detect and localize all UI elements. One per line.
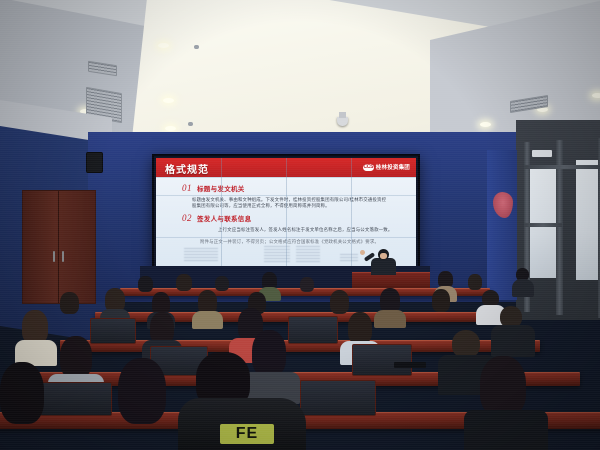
downlight: [480, 122, 491, 127]
panel-seam: [286, 158, 287, 266]
doc-thumbnail: [340, 254, 358, 262]
panel-seam: [221, 158, 222, 266]
ceiling-dome-camera-icon: [337, 117, 348, 126]
logo-company-text: 桂林投资集团: [376, 163, 410, 171]
panel-seam: [351, 158, 352, 266]
wooden-double-door[interactable]: [22, 190, 96, 304]
downlight: [158, 43, 169, 48]
section-02-body: 上行文应当标注签发人，签发人姓名标注于发文单位名称之后，应当与公文落款一致。: [218, 227, 393, 233]
seat-back: [40, 382, 112, 416]
wall-pillar-blue: [487, 150, 517, 300]
window-transom: [524, 223, 562, 227]
presenter-face: [380, 253, 387, 259]
doc-thumbnail: [184, 248, 218, 262]
door-handle-icon: [62, 251, 64, 262]
seat-back: [288, 316, 338, 344]
smoke-detector-icon: [188, 122, 193, 126]
downlight: [163, 98, 174, 103]
window-glass: [576, 160, 598, 280]
section-number: 01: [182, 183, 192, 193]
seat-back: [90, 318, 136, 344]
device-on-desk: [394, 362, 426, 368]
downlight: [165, 126, 176, 131]
presenter-body: [371, 258, 396, 275]
auditorium-photo: 格式规范 CCS 桂林投资集团 01 标题与发文机关 标题由发文机关、事由和文种…: [0, 0, 600, 450]
seat-back: [300, 380, 376, 416]
panel-seam: [156, 195, 416, 196]
slide-section-02: 02 签发人与联系信息: [182, 213, 251, 223]
company-logo: CCS 桂林投资集团: [363, 163, 410, 171]
downlight: [592, 93, 600, 98]
smoke-detector-icon: [194, 45, 199, 49]
presentation-slide: 格式规范 CCS 桂林投资集团 01 标题与发文机关 标题由发文机关、事由和文种…: [156, 158, 416, 266]
slide-footnote: 附件与正文一并装订，不得另页；公文格式应符合国家标准《党政机关公文格式》要求。: [200, 239, 390, 245]
presenter-hand: [360, 250, 365, 255]
window-vent-box: [532, 150, 552, 157]
section-number: 02: [182, 213, 192, 223]
wall-speaker-left: [86, 152, 103, 173]
slide-title: 格式规范: [165, 161, 209, 176]
door-handle-icon: [53, 251, 55, 262]
window-transom: [524, 165, 600, 169]
doc-thumbnail: [296, 246, 320, 262]
slide-section-01: 01 标题与发文机关: [182, 183, 245, 193]
panel-seam: [156, 177, 416, 178]
jacket-logo-text: FE: [220, 424, 274, 444]
seat-back: [352, 344, 412, 376]
logo-mark: CCS: [363, 164, 374, 171]
panel-seam: [156, 237, 416, 238]
section-heading: 签发人与联系信息: [197, 213, 251, 223]
